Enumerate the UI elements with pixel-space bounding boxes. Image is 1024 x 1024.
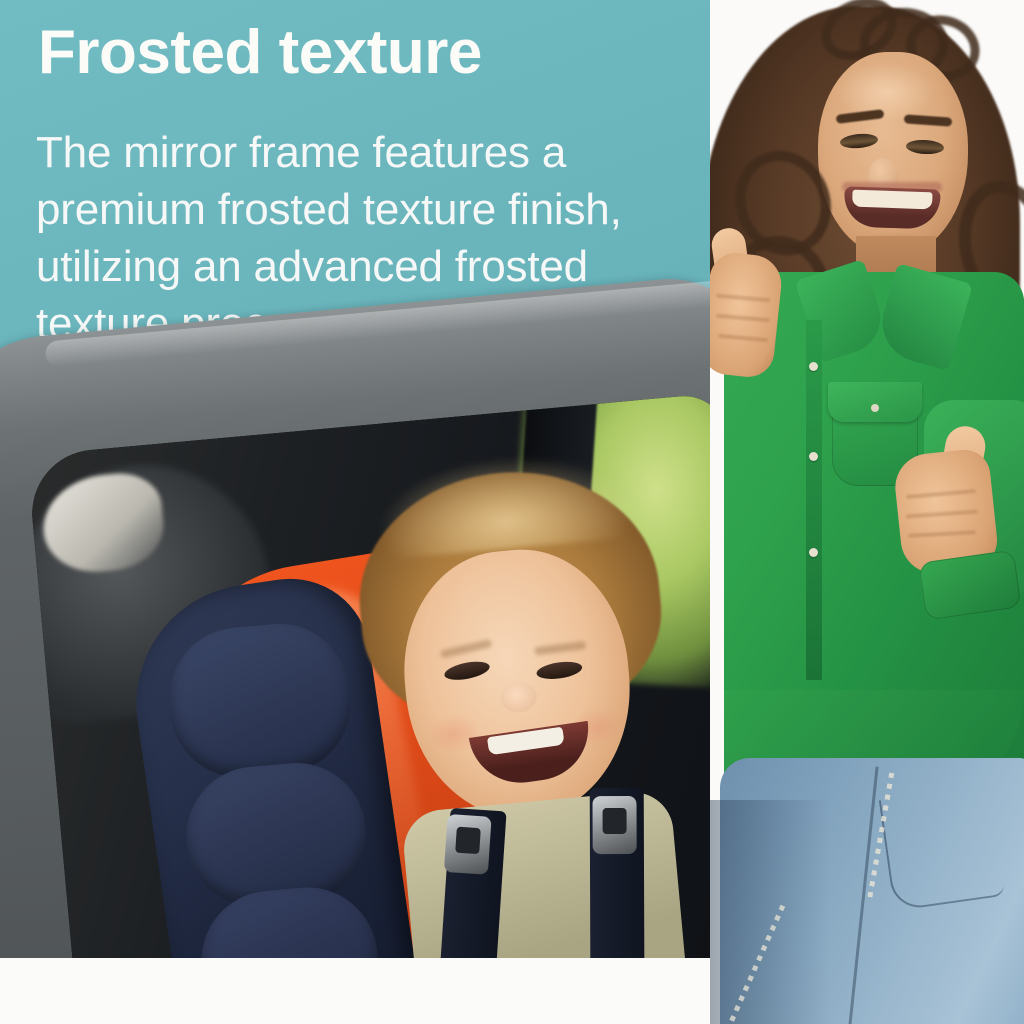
harness-buckle-left [444, 814, 492, 875]
shirt-placket [806, 320, 822, 680]
right-model-panel [710, 0, 1024, 1024]
shirt-button [809, 452, 818, 461]
jeans-shadow [710, 800, 830, 1024]
woman-teeth [852, 190, 933, 210]
jeans-back-pocket [879, 785, 1005, 911]
harness-buckle-right [592, 796, 636, 854]
shirt-pocket-flap [828, 382, 922, 422]
left-feature-panel: Frosted texture The mirror frame feature… [0, 0, 710, 958]
page-title: Frosted texture [38, 16, 678, 90]
reflected-car-interior-scene [27, 392, 710, 958]
shirt-button [809, 548, 818, 557]
shirt-pocket-button [871, 404, 879, 412]
mirror-glass-reflection [27, 392, 710, 958]
child-in-car-seat [331, 458, 707, 958]
product-feature-card: Frosted texture The mirror frame feature… [0, 0, 1024, 1024]
shirt-button [809, 362, 818, 371]
baby-car-mirror-photo [0, 265, 710, 958]
